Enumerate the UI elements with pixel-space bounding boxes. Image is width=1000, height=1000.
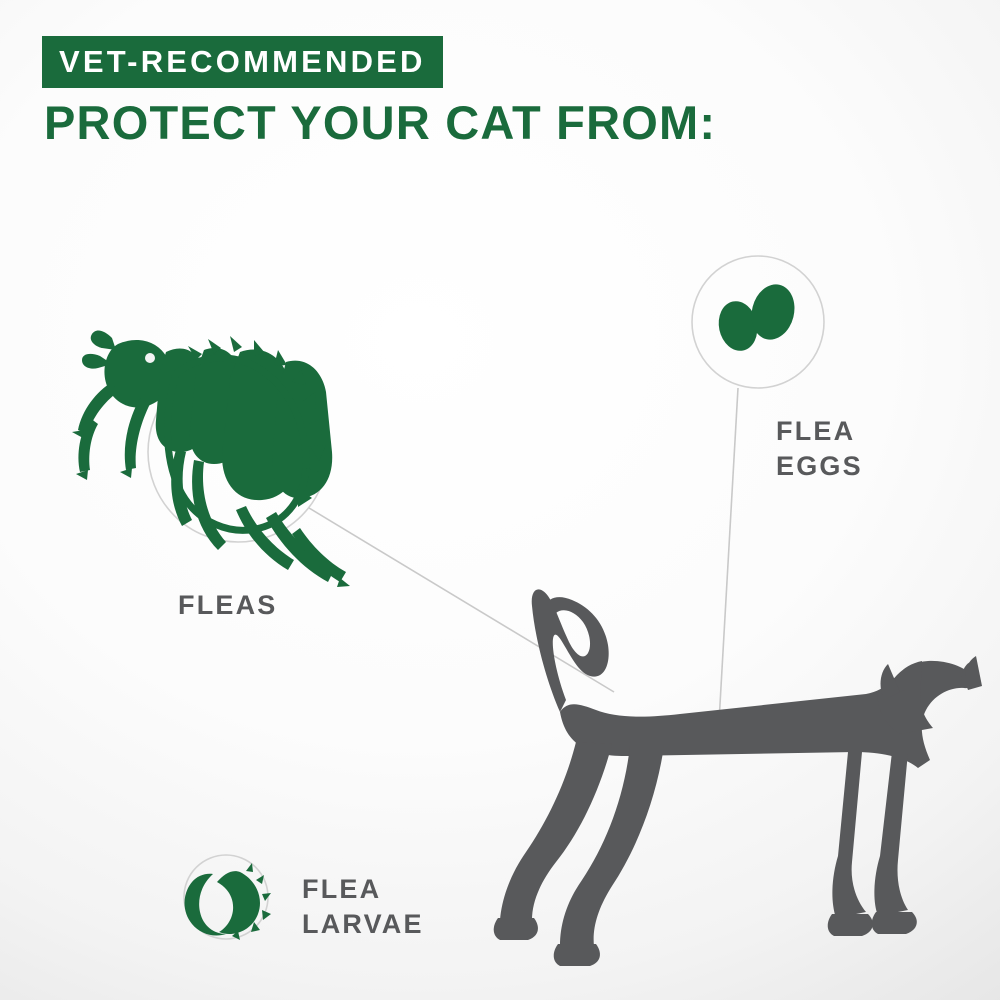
fleas-label: FLEAS	[178, 588, 278, 623]
vet-recommended-badge: VET-RECOMMENDED	[42, 36, 443, 88]
flea-larvae-label: FLEA LARVAE	[302, 872, 424, 941]
page-title: PROTECT YOUR CAT FROM:	[44, 96, 716, 150]
flea-eggs-label: FLEA EGGS	[776, 414, 863, 483]
infographic-canvas: VET-RECOMMENDED PROTECT YOUR CAT FROM: F…	[0, 0, 1000, 1000]
